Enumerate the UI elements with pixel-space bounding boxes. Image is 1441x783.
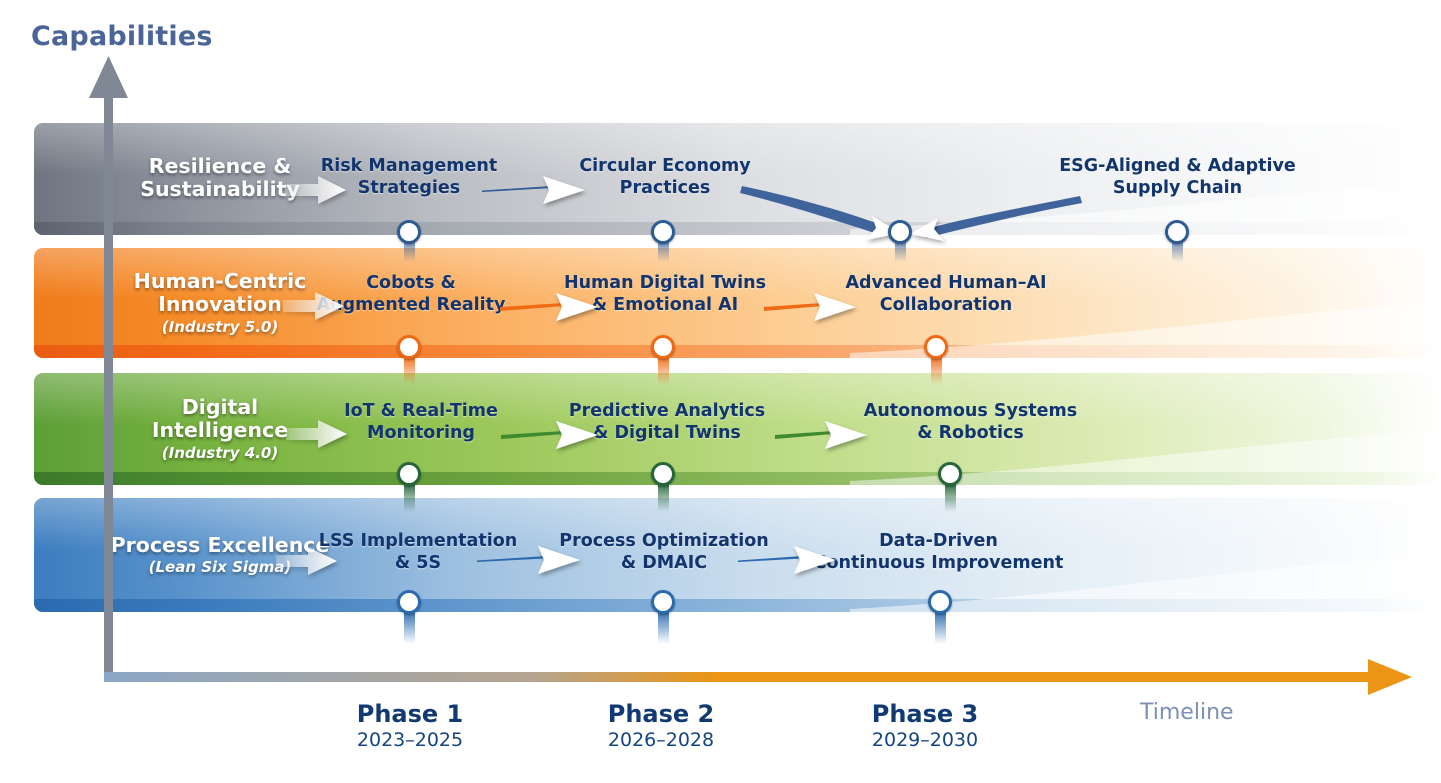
band-process-excellence: Process Excellence (Lean Six Sigma) <box>34 498 1441 612</box>
phase-years: 2026–2028 <box>551 728 771 753</box>
band-footer-strip <box>34 345 1441 358</box>
band-background <box>34 498 1441 612</box>
phase-label-1: Phase 1 2023–2025 <box>300 700 520 753</box>
node-tail <box>931 355 942 385</box>
capabilities-axis-label: Capabilities <box>31 21 213 52</box>
node-resilience-esg[interactable] <box>1165 220 1189 244</box>
band-footer-strip <box>34 222 1441 235</box>
node-resilience-phase2[interactable] <box>651 220 675 244</box>
timeline-axis-label: Timeline <box>1140 700 1234 725</box>
phase-label-3: Phase 3 2029–2030 <box>815 700 1035 753</box>
node-human-centric-phase3[interactable] <box>924 335 948 359</box>
band-footer-strip <box>34 599 1441 612</box>
node-human-centric-phase2[interactable] <box>651 335 675 359</box>
node-process-phase1[interactable] <box>397 590 421 614</box>
band-footer-strip <box>34 472 1441 485</box>
node-digital-phase2[interactable] <box>651 462 675 486</box>
phase-name: Phase 1 <box>300 700 520 728</box>
node-tail <box>404 482 415 512</box>
node-resilience-phase1[interactable] <box>397 220 421 244</box>
phase-years: 2023–2025 <box>300 728 520 753</box>
node-digital-phase1[interactable] <box>397 462 421 486</box>
node-tail <box>945 482 956 512</box>
node-tail <box>658 482 669 512</box>
band-background <box>34 248 1441 358</box>
node-process-phase2[interactable] <box>651 590 675 614</box>
node-human-centric-phase1[interactable] <box>397 335 421 359</box>
node-tail <box>658 610 669 644</box>
node-tail <box>935 610 946 644</box>
phase-name: Phase 3 <box>815 700 1035 728</box>
band-background <box>34 373 1441 485</box>
node-tail <box>404 610 415 644</box>
node-resilience-phase3[interactable] <box>888 220 912 244</box>
phase-label-2: Phase 2 2026–2028 <box>551 700 771 753</box>
node-process-phase3[interactable] <box>928 590 952 614</box>
node-tail <box>658 355 669 385</box>
timeline-axis-arrow <box>104 659 1412 695</box>
band-human-centric-innovation: Human-CentricInnovation (Industry 5.0) <box>34 248 1441 358</box>
band-resilience-sustainability: Resilience &Sustainability <box>34 123 1441 235</box>
roadmap-diagram: Resilience &Sustainability Human-Centric… <box>0 0 1441 783</box>
node-tail <box>404 355 415 385</box>
band-background <box>34 123 1441 235</box>
node-digital-phase3[interactable] <box>938 462 962 486</box>
band-digital-intelligence: DigitalIntelligence (Industry 4.0) <box>34 373 1441 485</box>
phase-name: Phase 2 <box>551 700 771 728</box>
phase-years: 2029–2030 <box>815 728 1035 753</box>
